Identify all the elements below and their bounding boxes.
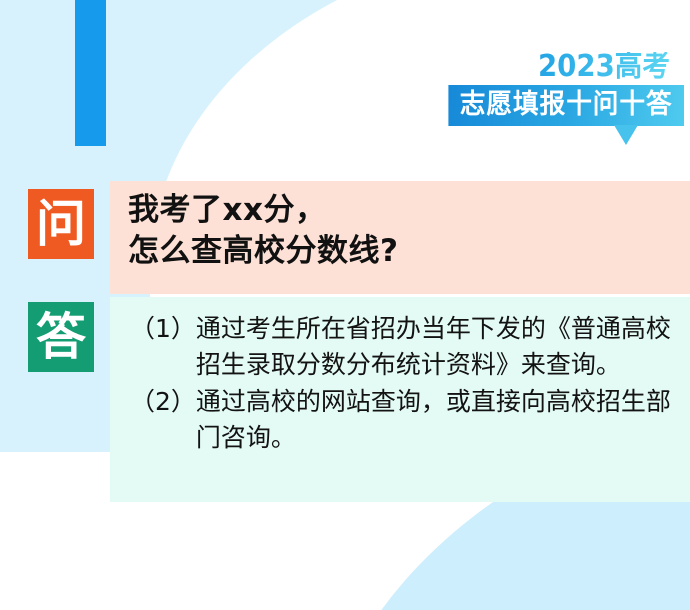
blue-accent-bar <box>75 0 106 146</box>
answer-item: （2） 通过高校的网站查询，或直接向高校招生部门咨询。 <box>130 384 682 455</box>
answer-item-body: 通过高校的网站查询，或直接向高校招生部门咨询。 <box>196 384 682 455</box>
header: 2023高考 志愿填报十问十答 <box>436 52 684 126</box>
banner-wrap: 志愿填报十问十答 <box>436 85 684 126</box>
question-line-2: 怎么查高校分数线? <box>128 231 678 272</box>
answer-item: （1） 通过考生所在省招办当年下发的《普通高校招生录取分数分布统计资料》来查询。 <box>130 311 682 382</box>
banner-title: 志愿填报十问十答 <box>448 85 684 126</box>
speech-bubble-tail-icon <box>614 125 638 145</box>
question-badge-icon: 问 <box>28 189 94 259</box>
answer-item-marker: （2） <box>130 384 196 455</box>
question-text: 我考了xx分， 怎么查高校分数线? <box>128 190 678 272</box>
question-line-1: 我考了xx分， <box>128 190 678 231</box>
answer-text: （1） 通过考生所在省招办当年下发的《普通高校招生录取分数分布统计资料》来查询。… <box>130 311 682 457</box>
answer-item-body: 通过考生所在省招办当年下发的《普通高校招生录取分数分布统计资料》来查询。 <box>196 311 682 382</box>
year-title: 2023高考 <box>455 52 670 82</box>
answer-item-marker: （1） <box>130 311 196 382</box>
answer-badge-icon: 答 <box>28 302 94 372</box>
poster-canvas: 2023高考 志愿填报十问十答 问 我考了xx分， 怎么查高校分数线? 答 （1… <box>0 0 690 610</box>
